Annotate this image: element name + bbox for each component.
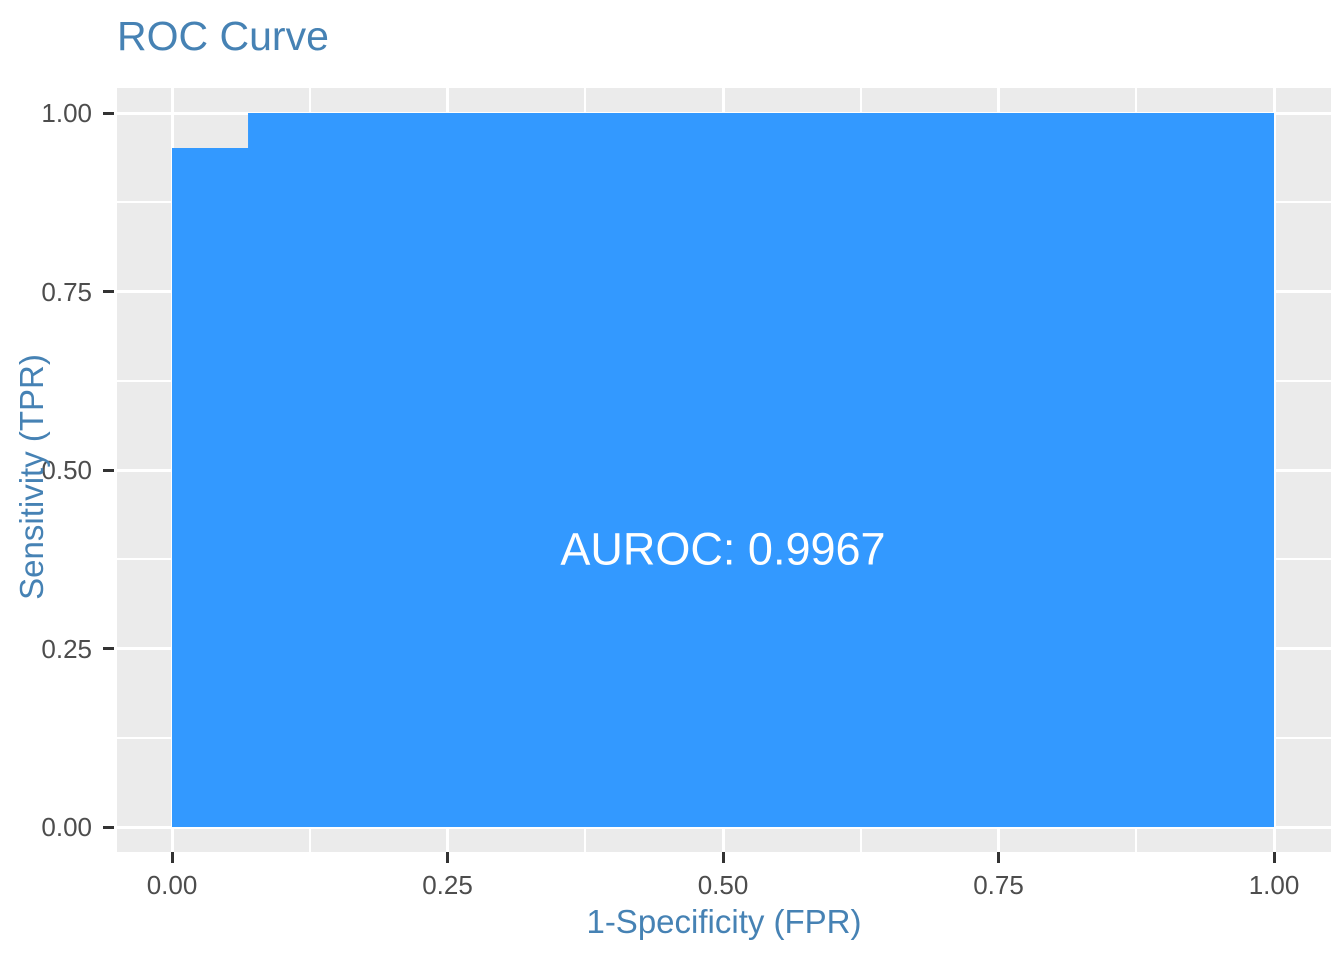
y-axis-tick-label: 0.00 <box>0 814 92 840</box>
x-axis-tick-label: 0.75 <box>919 872 1079 898</box>
y-axis-tick-mark <box>103 826 114 829</box>
x-axis-tick-mark <box>171 852 174 863</box>
page-title: ROC Curve <box>117 9 329 63</box>
x-axis-tick-mark <box>722 852 725 863</box>
plot-panel: AUROC: 0.9967 <box>117 88 1331 852</box>
x-axis-tick-mark <box>446 852 449 863</box>
x-axis-tick-mark <box>1273 852 1276 863</box>
x-axis-tick-label: 0.00 <box>92 872 252 898</box>
y-axis-title: Sensitivity (TPR) <box>13 177 51 777</box>
roc-curve-area <box>117 88 1331 852</box>
x-axis-tick-label: 0.50 <box>643 872 803 898</box>
y-axis-tick-mark <box>103 290 114 293</box>
roc-curve-plot: ROC Curve AUROC: 0.9967 0.000.250.500.75… <box>0 0 1344 960</box>
x-axis-tick-label: 0.25 <box>368 872 528 898</box>
auroc-annotation: AUROC: 0.9967 <box>560 526 885 571</box>
x-axis-tick-label: 1.00 <box>1194 872 1344 898</box>
x-axis-title: 1-Specificity (FPR) <box>117 903 1331 941</box>
y-axis-tick-mark <box>103 112 114 115</box>
y-axis-tick-label: 1.00 <box>0 100 92 126</box>
y-axis-tick-mark <box>103 647 114 650</box>
x-axis-tick-mark <box>997 852 1000 863</box>
y-axis-tick-mark <box>103 469 114 472</box>
